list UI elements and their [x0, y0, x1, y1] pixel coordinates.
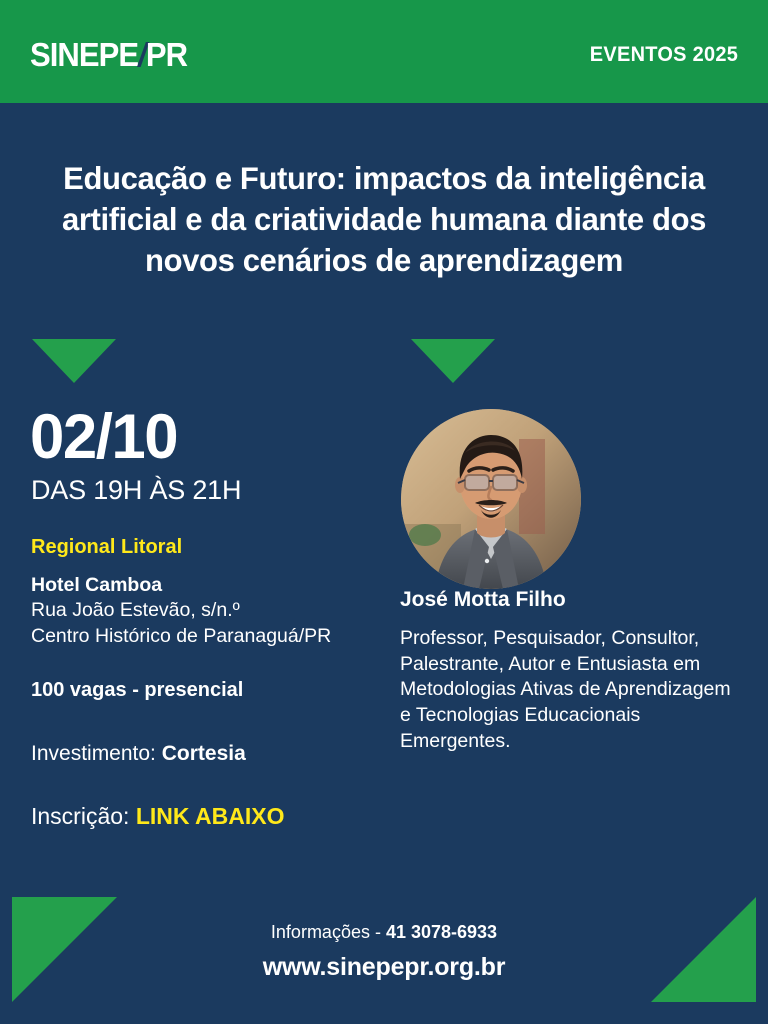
investment-label: Investimento:: [31, 742, 162, 765]
logo-text-main: SINEPE: [30, 36, 138, 73]
event-poster: SINEPE/PR EVENTOS 2025 Educação e Futuro…: [0, 0, 768, 1024]
speaker-bio: Professor, Pesquisador, Consultor, Pales…: [400, 626, 735, 755]
venue-address-line-1: Rua João Estevão, s/n.º: [31, 598, 331, 623]
triangle-down-icon-date: [32, 339, 116, 383]
speaker-photo: [401, 409, 581, 589]
corner-triangle-bottom-right: [651, 897, 756, 1002]
eventos-label: EVENTOS 2025: [590, 43, 738, 67]
sinepe-logo[interactable]: SINEPE/PR: [30, 36, 187, 74]
header-bar: SINEPE/PR EVENTOS 2025: [0, 0, 768, 103]
event-time: DAS 19H ÀS 21H: [31, 477, 241, 504]
triangle-down-icon-speaker: [411, 339, 495, 383]
capacity-label: 100 vagas - presencial: [31, 680, 243, 700]
venue-address-line-2: Centro Histórico de Paranaguá/PR: [31, 624, 331, 649]
contact-phone[interactable]: 41 3078-6933: [386, 922, 497, 942]
venue-block: Hotel Camboa Rua João Estevão, s/n.º Cen…: [31, 573, 331, 649]
logo-text-suffix: PR: [146, 36, 187, 73]
corner-triangle-bottom-left: [12, 897, 117, 1002]
registration-value[interactable]: LINK ABAIXO: [136, 803, 285, 829]
investment-line: Investimento: Cortesia: [31, 743, 246, 764]
contact-info-label: Informações -: [271, 922, 386, 942]
event-date: 02/10: [30, 406, 177, 469]
registration-line: Inscrição: LINK ABAIXO: [31, 805, 284, 828]
investment-value: Cortesia: [162, 742, 246, 765]
registration-label: Inscrição:: [31, 803, 136, 829]
speaker-name: José Motta Filho: [400, 589, 748, 610]
regional-label: Regional Litoral: [31, 537, 182, 557]
speaker-portrait-illustration: [401, 409, 581, 589]
event-title: Educação e Futuro: impactos da inteligên…: [33, 158, 734, 281]
venue-name: Hotel Camboa: [31, 573, 331, 598]
